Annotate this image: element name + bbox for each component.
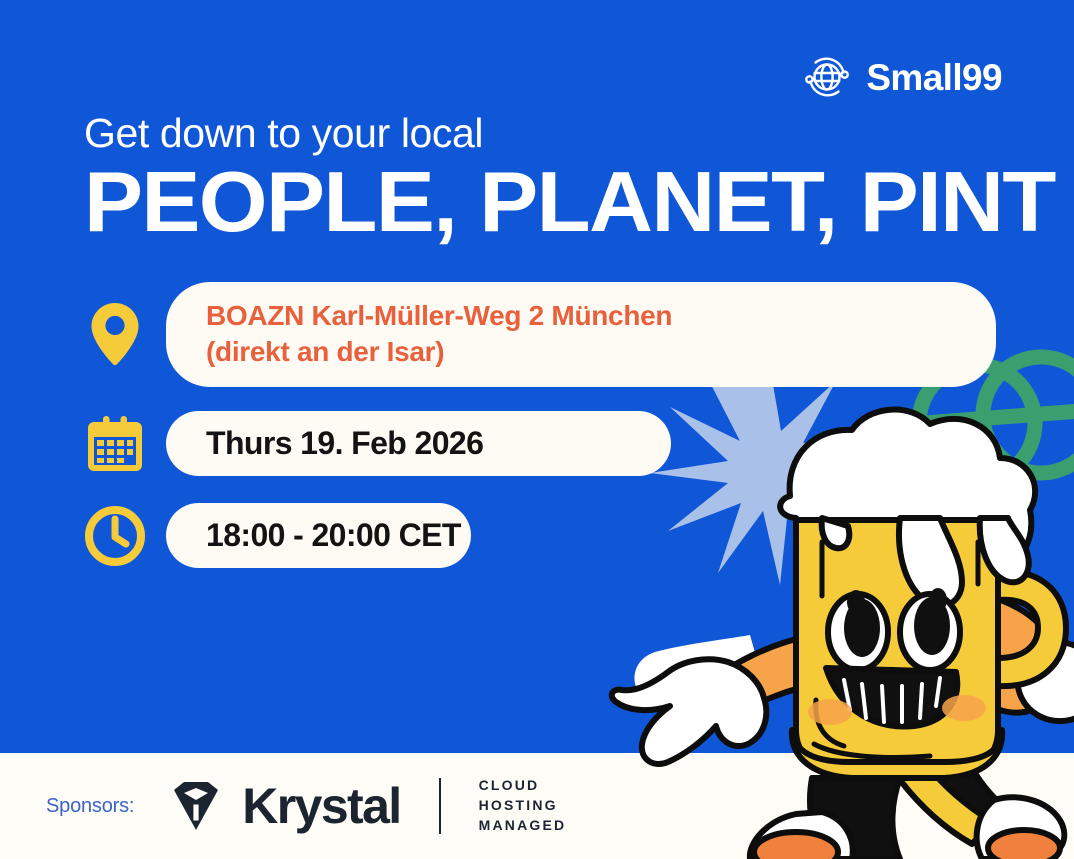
brand-name: Small99 — [866, 59, 1002, 96]
tagline-line-3: MANAGED — [479, 816, 567, 836]
sponsor-tagline: CLOUD HOSTING MANAGED — [479, 776, 567, 836]
sponsor-wordmark: Krystal — [242, 781, 400, 831]
krystal-diamond-icon — [168, 778, 224, 834]
sponsor-krystal[interactable]: Krystal CLOUD HOSTING MANAGED — [168, 776, 566, 836]
address-line-2: (direkt an der Isar) — [206, 334, 672, 370]
address-line-1: BOAZN Karl-Müller-Weg 2 München — [206, 298, 672, 334]
sponsor-divider — [439, 778, 441, 834]
sponsors-footer: Sponsors: Krystal CLOUD HOSTING MANAGED — [0, 753, 1074, 859]
date-value: Thurs 19. Feb 2026 — [206, 425, 483, 462]
time-value: 18:00 - 20:00 CET — [206, 517, 461, 554]
tagline-line-1: CLOUD — [479, 776, 567, 796]
detail-row-date: Thurs 19. Feb 2026 — [84, 409, 996, 479]
globe-orbit-icon — [802, 52, 852, 102]
address-pill: BOAZN Karl-Müller-Weg 2 München (direkt … — [166, 282, 996, 387]
event-poster: Small99 Get down to your local PEOPLE, P… — [0, 0, 1074, 859]
time-pill: 18:00 - 20:00 CET — [166, 503, 471, 568]
date-pill: Thurs 19. Feb 2026 — [166, 411, 671, 476]
event-details-list: BOAZN Karl-Müller-Weg 2 München (direkt … — [84, 282, 996, 571]
clock-icon — [84, 501, 146, 571]
poster-stage: Small99 Get down to your local PEOPLE, P… — [0, 0, 1074, 753]
kicker-text: Get down to your local — [84, 110, 483, 157]
detail-row-time: 18:00 - 20:00 CET — [84, 501, 996, 571]
page-title: PEOPLE, PLANET, PINT — [84, 160, 1055, 245]
sponsors-label: Sponsors: — [46, 795, 134, 818]
calendar-icon — [84, 409, 146, 479]
detail-row-address: BOAZN Karl-Müller-Weg 2 München (direkt … — [84, 282, 996, 387]
brand-logo[interactable]: Small99 — [802, 52, 1002, 102]
location-pin-icon — [84, 299, 146, 369]
tagline-line-2: HOSTING — [479, 796, 567, 816]
